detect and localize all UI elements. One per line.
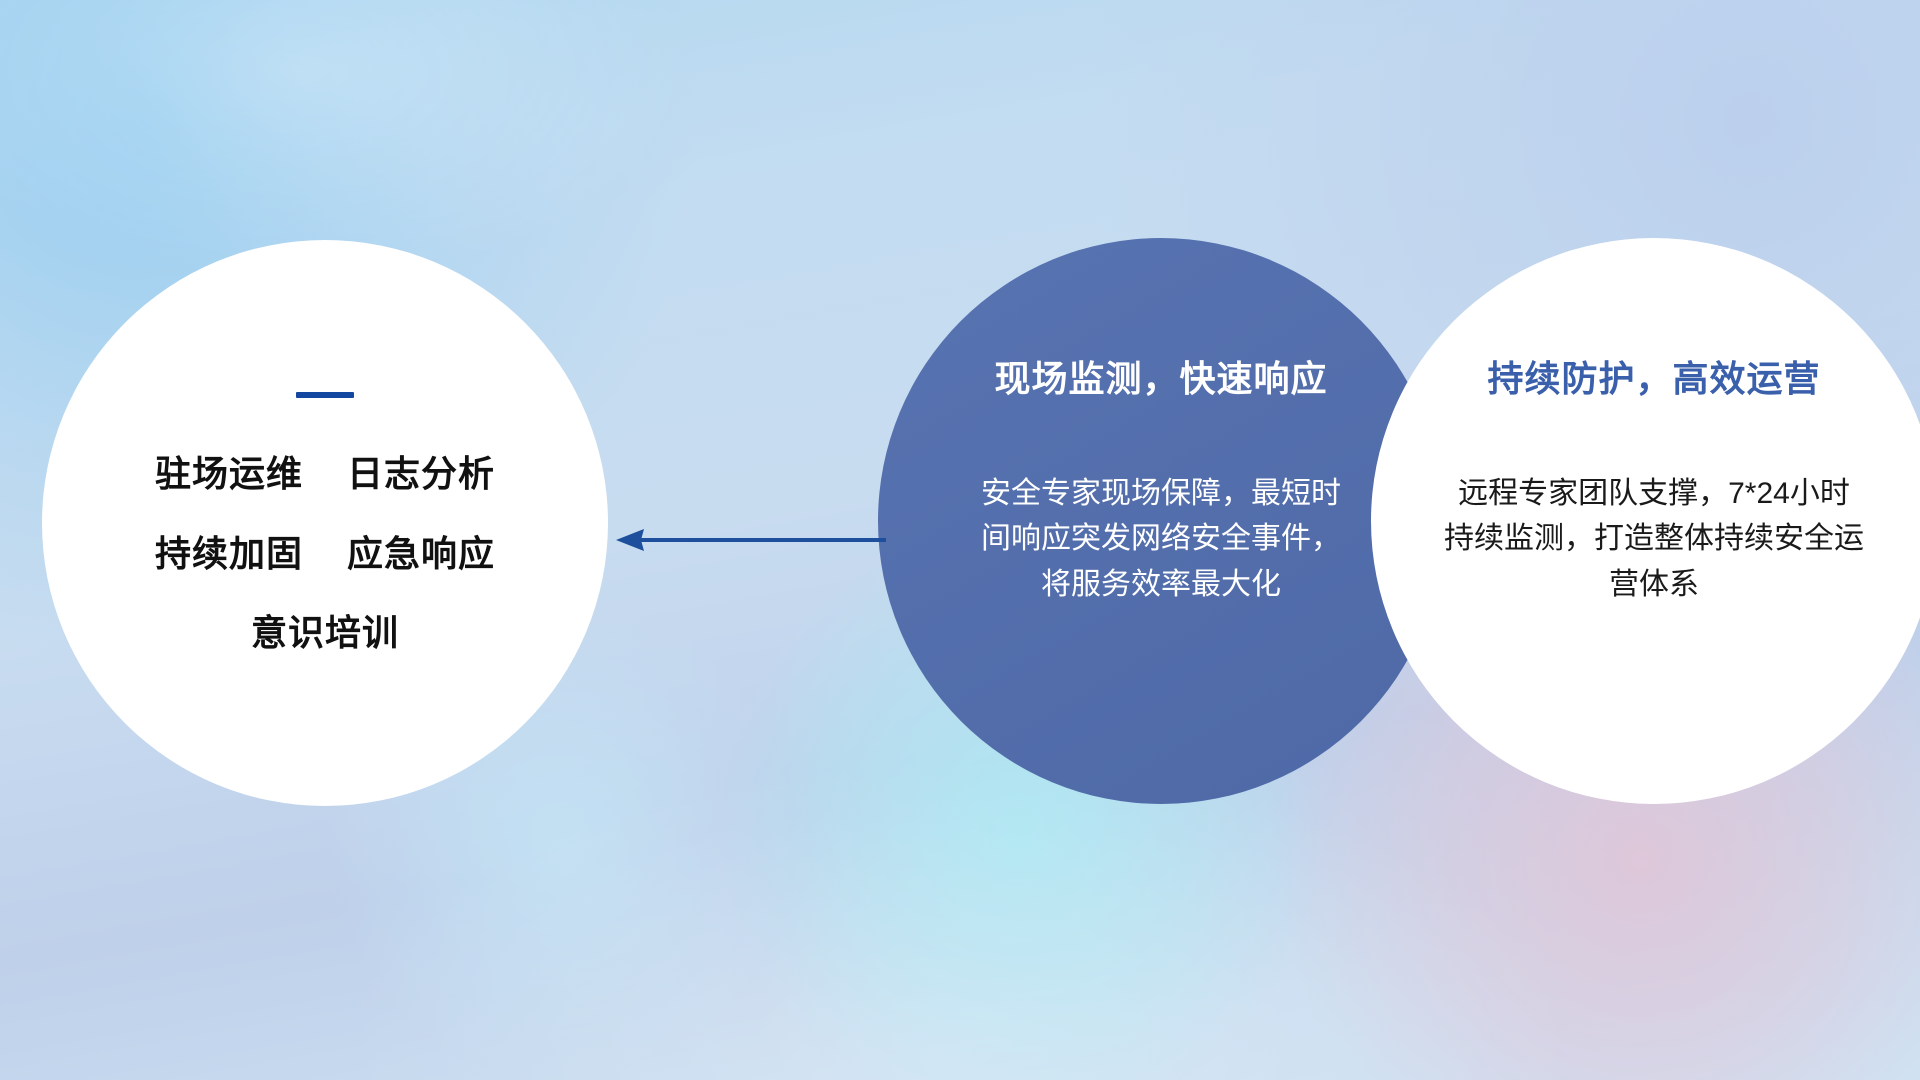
- left-circle-card: 驻场运维 日志分析 持续加固 应急响应 意识培训: [42, 240, 608, 806]
- right-circle-card: 持续防护，高效运营 远程专家团队支撑，7*24小时持续监测，打造整体持续安全运营…: [1371, 238, 1920, 804]
- middle-circle-body-text: 安全专家现场保障，最短时间响应突发网络安全事件，将服务效率最大化: [971, 471, 1351, 608]
- left-keyword-line-2: 持续加固 应急响应: [155, 534, 495, 574]
- middle-circle-title: 现场监测，快速响应: [994, 359, 1327, 399]
- right-circle-body-text: 远程专家团队支撑，7*24小时持续监测，打造整体持续安全运营体系: [1444, 471, 1864, 608]
- left-keyword-line-1: 驻场运维 日志分析: [155, 454, 495, 494]
- middle-circle-card: 现场监测，快速响应 安全专家现场保障，最短时间响应突发网络安全事件，将服务效率最…: [878, 238, 1444, 804]
- middle-circle-content: 现场监测，快速响应 安全专家现场保障，最短时间响应突发网络安全事件，将服务效率最…: [878, 359, 1444, 607]
- right-circle-content: 持续防护，高效运营 远程专家团队支撑，7*24小时持续监测，打造整体持续安全运营…: [1371, 359, 1920, 607]
- left-arrow-connector: [610, 520, 886, 560]
- arrow-head-icon: [616, 529, 644, 551]
- accent-dash-divider: [296, 392, 354, 398]
- left-keyword-line-3: 意识培训: [251, 613, 399, 653]
- left-circle-content: 驻场运维 日志分析 持续加固 应急响应 意识培训: [42, 392, 608, 653]
- right-circle-title: 持续防护，高效运营: [1487, 359, 1820, 399]
